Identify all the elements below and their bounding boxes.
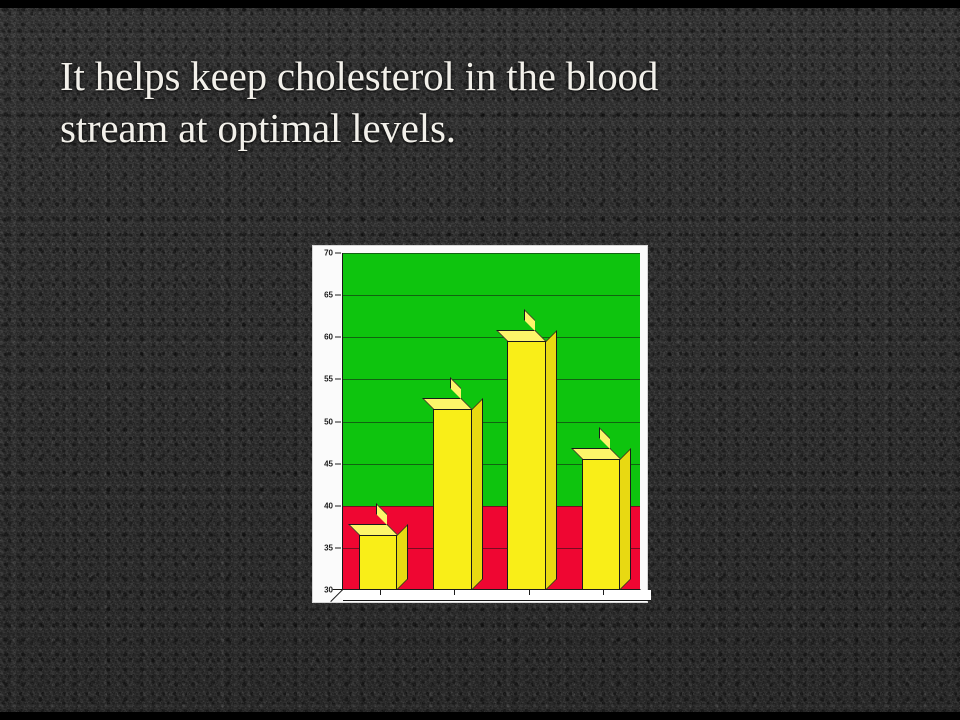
bar-front-face: [507, 341, 546, 590]
y-axis-tick-mark: [335, 253, 341, 254]
bar-side-face: [546, 330, 557, 590]
letterbox-top: [0, 0, 960, 8]
x-axis-tick-mark: [380, 590, 381, 595]
y-axis-tick-label: 55: [324, 375, 333, 384]
gridline: [343, 422, 640, 423]
headline-line-1: It helps keep cholesterol in the blood: [60, 50, 850, 102]
plot-inner: [343, 253, 640, 590]
bar-side-face: [472, 398, 483, 590]
bar-column: [507, 341, 546, 590]
x-axis-tick-mark: [454, 590, 455, 595]
plot-area: [342, 253, 640, 590]
y-axis-tick-mark: [335, 337, 341, 338]
bar-front-face: [359, 535, 398, 590]
y-axis-tick-mark: [335, 379, 341, 380]
gridline: [343, 337, 640, 338]
slide-canvas: It helps keep cholesterol in the blood s…: [0, 0, 960, 720]
chart-floor-3d: [343, 590, 651, 601]
y-axis-tick-label: 65: [324, 291, 333, 300]
headline-line-2: stream at optimal levels.: [60, 102, 850, 154]
bar-side-face: [620, 448, 631, 590]
axis-origin-corner: [331, 589, 344, 602]
y-axis-tick-mark: [335, 295, 341, 296]
x-axis-tick-mark: [603, 590, 604, 595]
y-axis-tick-label: 60: [324, 333, 333, 342]
gridline: [343, 253, 640, 254]
y-axis-tick-label: 40: [324, 501, 333, 510]
y-axis-tick-label: 35: [324, 543, 333, 552]
y-axis-tick-label: 45: [324, 459, 333, 468]
y-axis-tick-mark: [335, 547, 341, 548]
x-axis-tick-mark: [529, 590, 530, 595]
y-axis-tick-label: 50: [324, 417, 333, 426]
bar-column: [582, 459, 621, 590]
y-axis-tick-mark: [335, 421, 341, 422]
letterbox-bottom: [0, 712, 960, 720]
bar-column: [359, 535, 398, 590]
bar-column: [433, 409, 472, 590]
slide-headline: It helps keep cholesterol in the blood s…: [60, 50, 850, 154]
y-axis-tick-mark: [335, 463, 341, 464]
gridline: [343, 379, 640, 380]
bar-front-face: [582, 459, 621, 590]
y-axis-tick-label: 70: [324, 249, 333, 258]
y-axis-tick-mark: [335, 505, 341, 506]
bar-front-face: [433, 409, 472, 590]
y-axis: 303540455055606570: [313, 246, 341, 602]
bar-chart-figure: 303540455055606570: [313, 246, 647, 602]
gridline: [343, 295, 640, 296]
